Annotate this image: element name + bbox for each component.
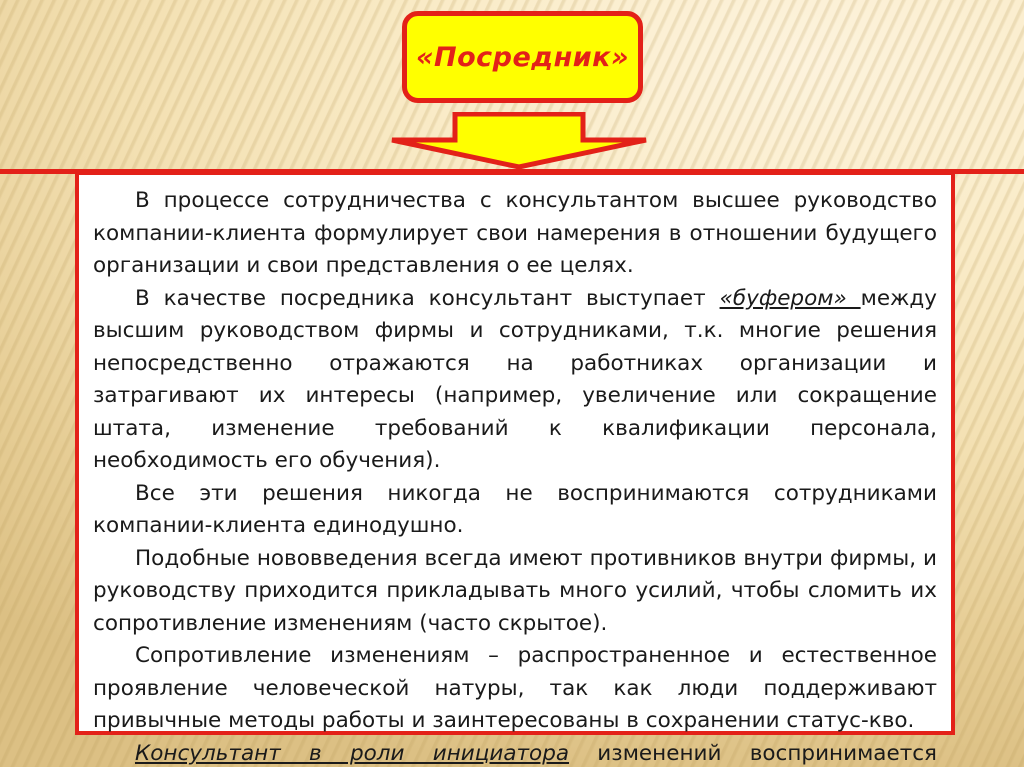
title-plate: «Посредник» [402, 11, 643, 103]
emphasized-phrase: Консультант в роли инициатора [135, 741, 569, 766]
text-run: В качестве посредника консультант выступ… [135, 286, 720, 311]
body-text: В процессе сотрудничества с консультанто… [93, 185, 937, 767]
paragraph: В процессе сотрудничества с консультанто… [93, 185, 937, 283]
page-title: «Посредник» [416, 42, 629, 73]
paragraph: Все эти решения никогда не воспринимаютс… [93, 478, 937, 543]
text-run: Все эти решения никогда не воспринимаютс… [93, 481, 937, 539]
paragraph: В качестве посредника консультант выступ… [93, 283, 937, 478]
content-panel: В процессе сотрудничества с консультанто… [75, 171, 955, 735]
paragraph: Сопротивление изменениям – распространен… [93, 640, 937, 738]
text-run: между высшим руководством фирмы и сотруд… [93, 286, 937, 474]
down-arrow-icon [388, 112, 650, 170]
emphasized-phrase: «буфером» [720, 286, 861, 311]
text-run: Сопротивление изменениям – распространен… [93, 643, 937, 733]
text-run: Подобные нововведения всегда имеют проти… [93, 546, 937, 636]
paragraph: Подобные нововведения всегда имеют проти… [93, 543, 937, 641]
paragraph: Консультант в роли инициатора изменений … [93, 738, 937, 767]
slide-canvas: «Посредник» В процессе сотрудничества с … [0, 0, 1024, 767]
text-run: В процессе сотрудничества с консультанто… [93, 188, 937, 278]
